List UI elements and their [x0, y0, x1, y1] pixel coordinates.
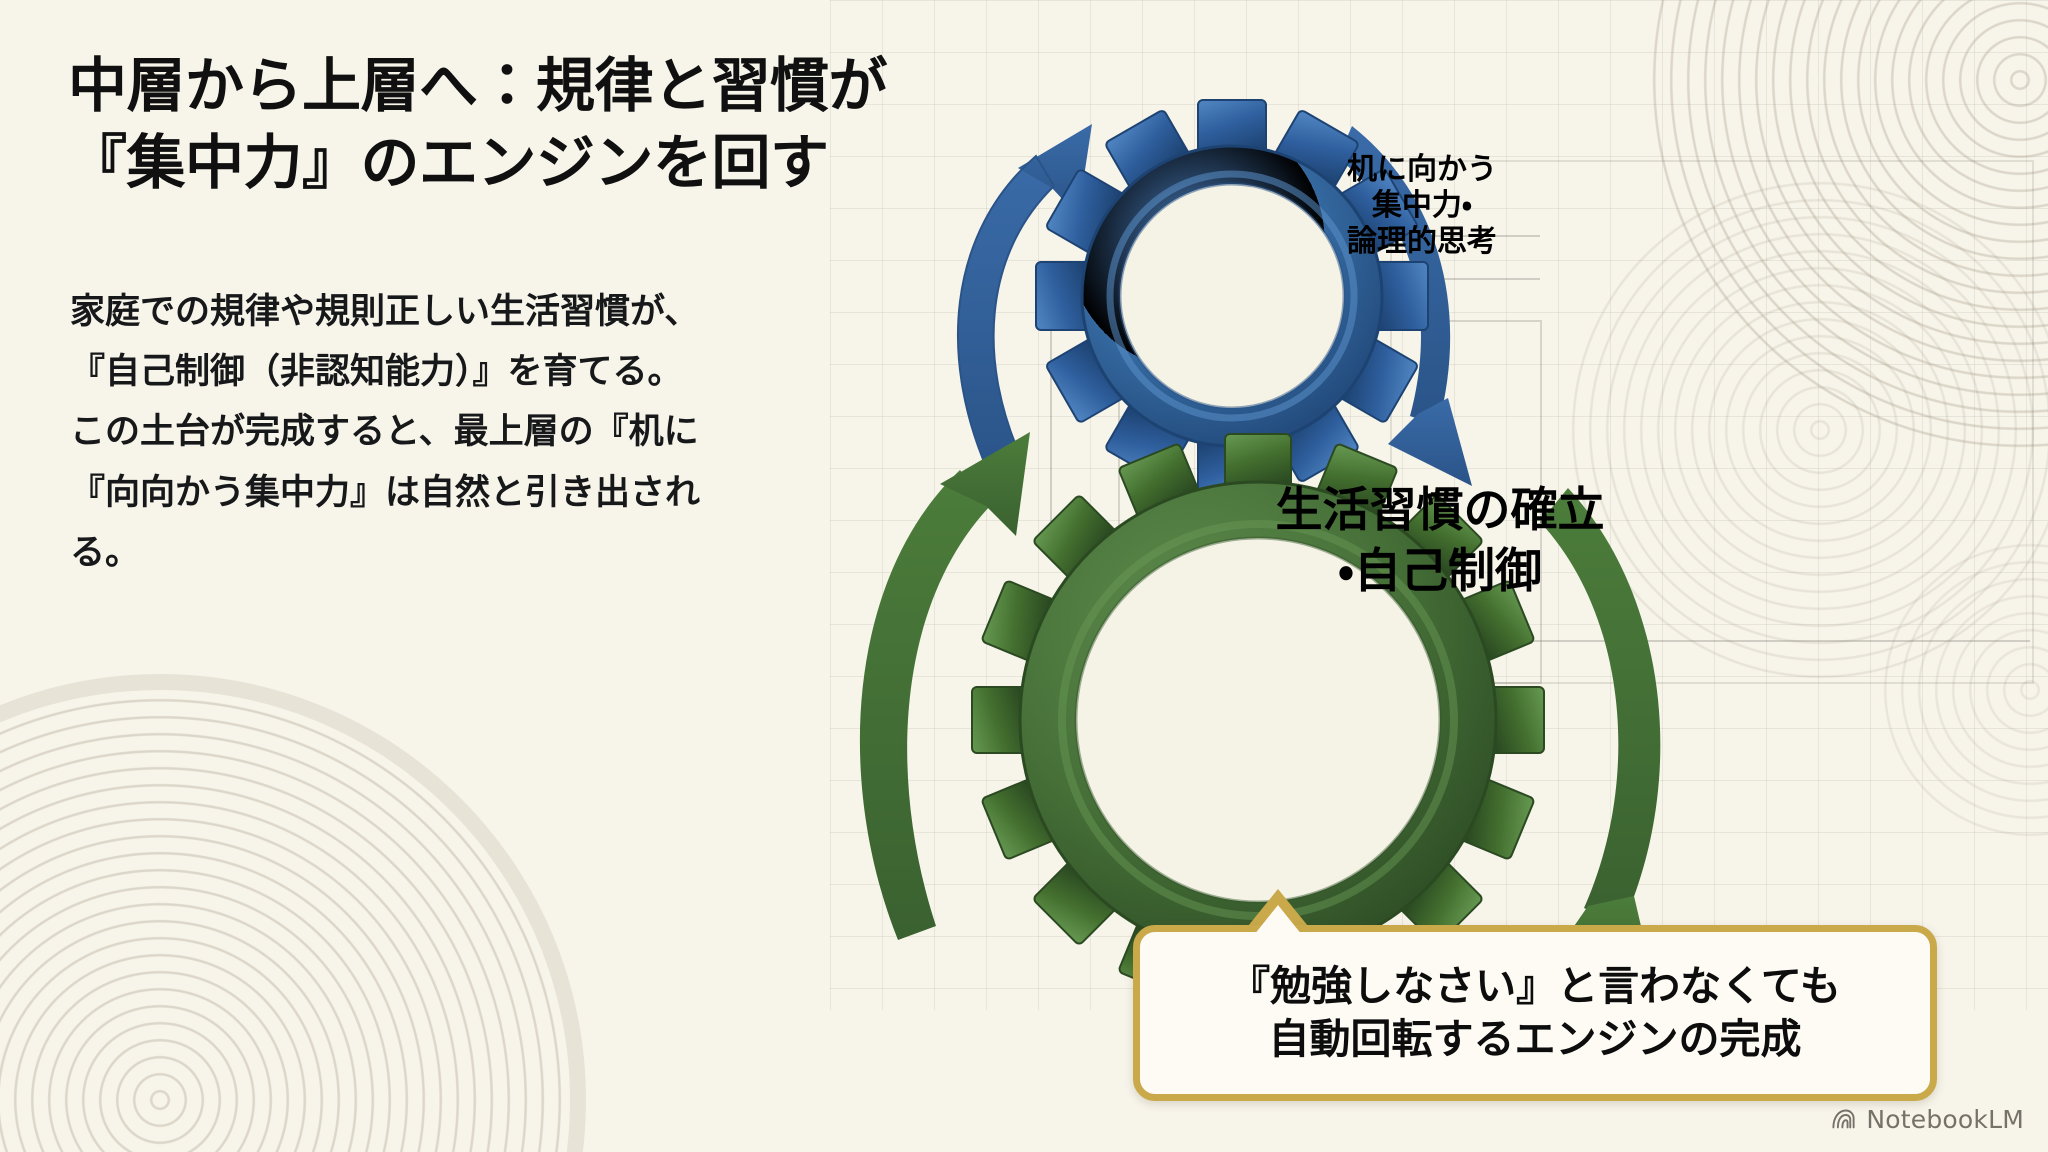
title-line-1: 中層から上層へ：規律と習慣が	[68, 48, 908, 125]
slide-canvas: 中層から上層へ：規律と習慣が 『集中力』のエンジンを回す 家庭での規律や規則正し…	[0, 0, 2048, 1152]
notebooklm-icon	[1830, 1106, 1857, 1133]
body-line-1: 家庭での規律や規則正しい生活習慣が、	[70, 282, 730, 342]
page-title: 中層から上層へ：規律と習慣が 『集中力』のエンジンを回す	[68, 48, 908, 201]
body-line-3: この土台が完成すると、最上層の『机に	[70, 402, 730, 462]
body-paragraph: 家庭での規律や規則正しい生活習慣が、 『自己制御（非認知能力）』を育てる。 この…	[70, 282, 730, 583]
callout-box: 『勉強しなさい』と言わなくても 自動回転するエンジンの完成	[1133, 925, 1937, 1101]
title-line-2: 『集中力』のエンジンを回す	[68, 125, 908, 202]
callout-pointer-inner	[1254, 905, 1302, 935]
callout-line-1: 『勉強しなさい』と言わなくても	[1229, 960, 1841, 1013]
notebooklm-watermark: NotebookLM	[1830, 1105, 2024, 1134]
tree-ring-texture-bottom-left	[0, 690, 570, 1152]
callout-text: 『勉強しなさい』と言わなくても 自動回転するエンジンの完成	[1140, 932, 1930, 1094]
body-line-2: 『自己制御（非認知能力）』を育てる。	[70, 342, 730, 402]
body-line-4: 『向向かう集中力』は自然と引き出され	[70, 463, 730, 523]
notebooklm-label: NotebookLM	[1866, 1105, 2024, 1134]
body-line-5: る。	[70, 523, 730, 583]
callout-line-2: 自動回転するエンジンの完成	[1269, 1013, 1802, 1066]
